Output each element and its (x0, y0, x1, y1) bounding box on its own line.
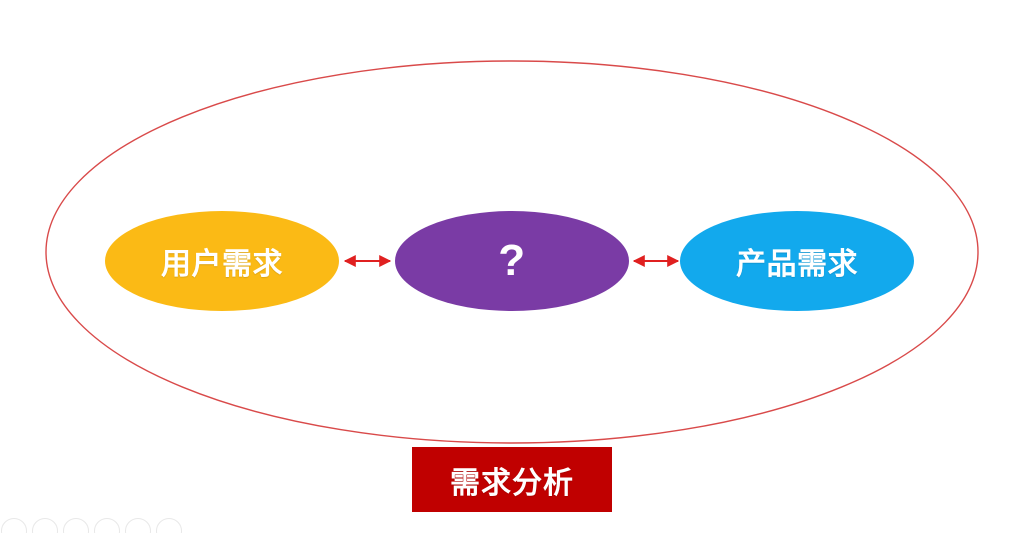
node-unknown[interactable] (395, 211, 629, 311)
node-user-need[interactable] (105, 211, 339, 311)
diagram-svg (0, 0, 1024, 533)
analysis-banner-rect[interactable] (412, 447, 612, 512)
diagram-canvas: 用户需求 ? 产品需求 需求分析 (0, 0, 1024, 533)
node-product-need[interactable] (680, 211, 914, 311)
